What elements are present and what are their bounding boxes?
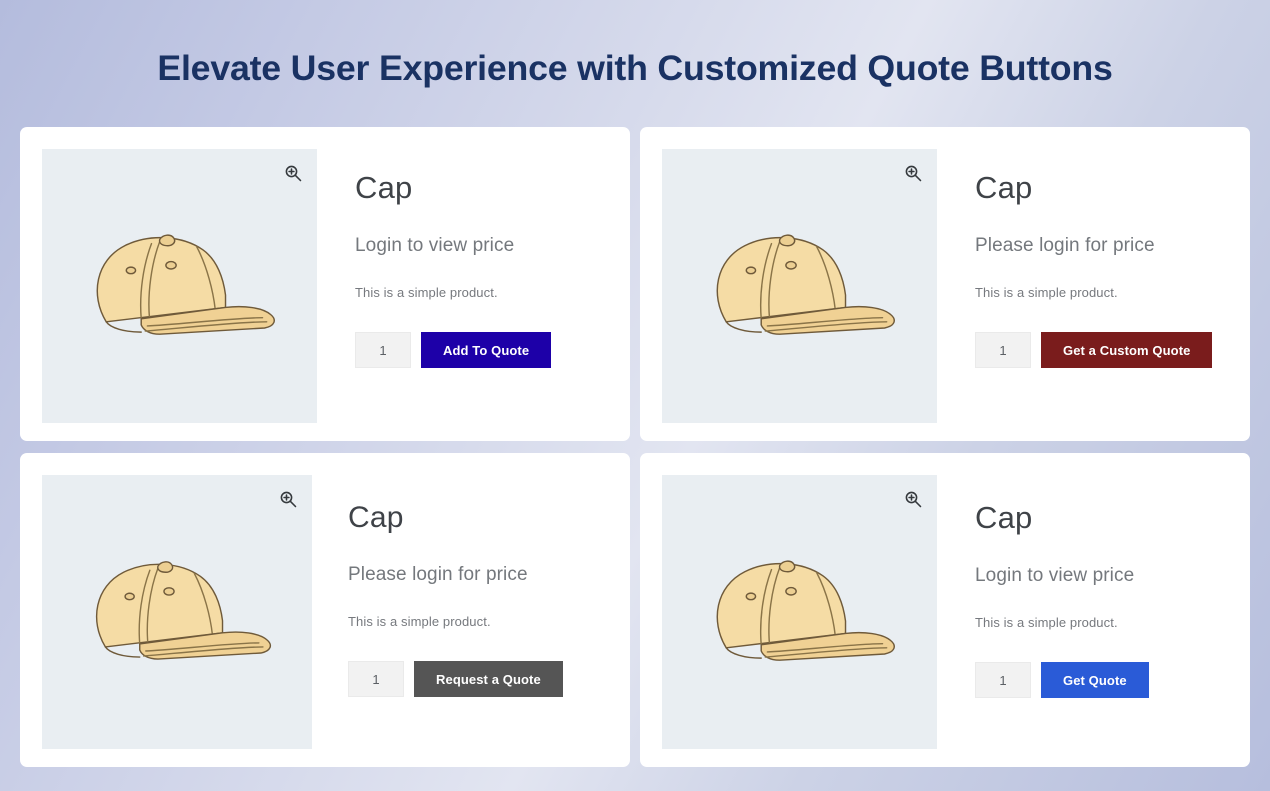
product-info: Cap Login to view price This is a simple…	[317, 127, 630, 368]
product-image-area	[42, 149, 317, 423]
quote-button[interactable]: Get a Custom Quote	[1041, 332, 1212, 368]
cap-illustration	[662, 475, 937, 749]
product-image-area	[662, 475, 937, 749]
cap-illustration	[42, 149, 317, 423]
product-card-grid: Cap Login to view price This is a simple…	[20, 127, 1250, 767]
product-card: Cap Please login for price This is a sim…	[640, 127, 1250, 441]
product-image-area	[662, 149, 937, 423]
product-title: Cap	[975, 501, 1228, 535]
quote-button[interactable]: Get Quote	[1041, 662, 1149, 698]
product-info: Cap Please login for price This is a sim…	[312, 453, 630, 697]
product-actions: Add To Quote	[355, 332, 608, 368]
quantity-input[interactable]	[975, 662, 1031, 698]
product-title: Cap	[355, 171, 608, 205]
product-description: This is a simple product.	[355, 285, 608, 300]
product-description: This is a simple product.	[348, 614, 608, 629]
product-image-area	[42, 475, 312, 749]
product-description: This is a simple product.	[975, 615, 1228, 630]
product-actions: Get Quote	[975, 662, 1228, 698]
product-description: This is a simple product.	[975, 285, 1228, 300]
product-price-text: Login to view price	[975, 565, 1228, 587]
product-card: Cap Please login for price This is a sim…	[20, 453, 630, 767]
page-title: Elevate User Experience with Customized …	[0, 0, 1270, 89]
quantity-input[interactable]	[355, 332, 411, 368]
quantity-input[interactable]	[975, 332, 1031, 368]
zoom-magnifier-icon[interactable]	[278, 489, 298, 509]
zoom-magnifier-icon[interactable]	[903, 163, 923, 183]
quantity-input[interactable]	[348, 661, 404, 697]
product-actions: Request a Quote	[348, 661, 608, 697]
product-title: Cap	[975, 171, 1228, 205]
quote-button[interactable]: Add To Quote	[421, 332, 551, 368]
cap-illustration	[42, 475, 312, 749]
zoom-magnifier-icon[interactable]	[903, 489, 923, 509]
product-price-text: Please login for price	[975, 235, 1228, 257]
product-title: Cap	[348, 501, 608, 534]
product-actions: Get a Custom Quote	[975, 332, 1228, 368]
product-card: Cap Login to view price This is a simple…	[20, 127, 630, 441]
cap-illustration	[662, 149, 937, 423]
product-info: Cap Please login for price This is a sim…	[937, 127, 1250, 368]
quote-button[interactable]: Request a Quote	[414, 661, 563, 697]
product-price-text: Please login for price	[348, 564, 608, 586]
product-card: Cap Login to view price This is a simple…	[640, 453, 1250, 767]
product-info: Cap Login to view price This is a simple…	[937, 453, 1250, 698]
product-price-text: Login to view price	[355, 235, 608, 257]
zoom-magnifier-icon[interactable]	[283, 163, 303, 183]
